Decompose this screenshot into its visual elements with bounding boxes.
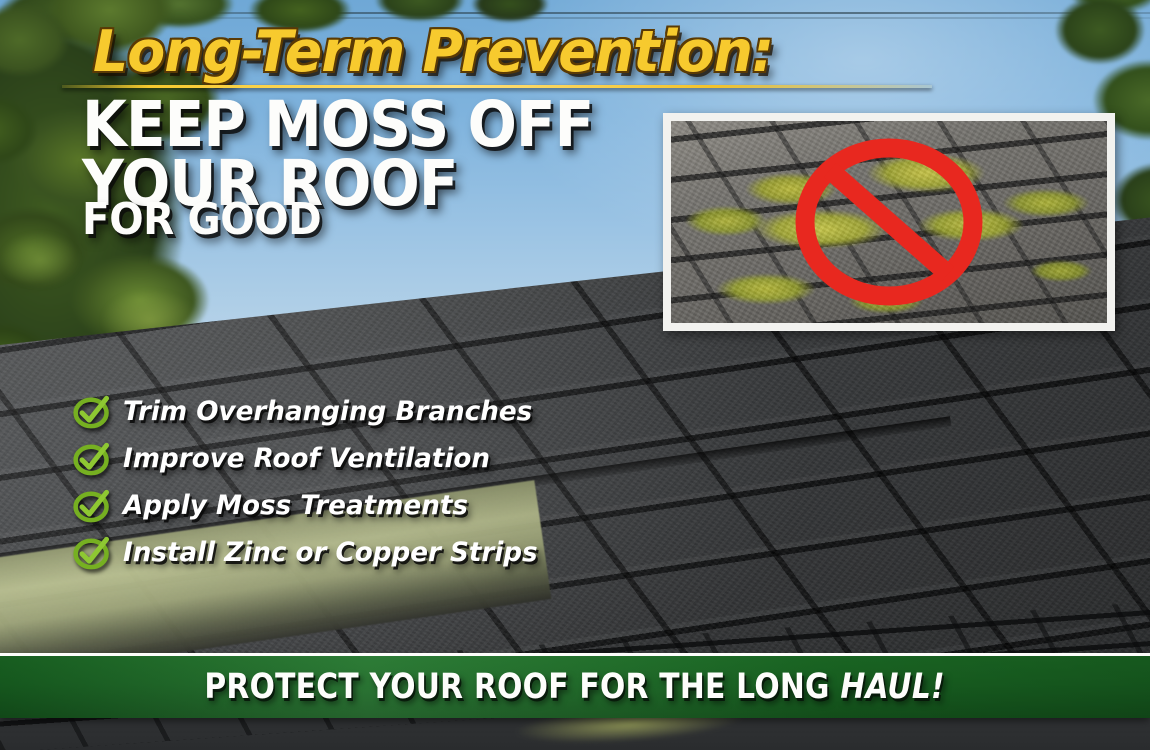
moss-covered-shingles-photo bbox=[671, 121, 1107, 323]
bottom-cta-banner: PROTECT YOUR ROOF FOR THE LONG HAUL! bbox=[0, 656, 1150, 718]
list-item: Install Zinc or Copper Strips bbox=[72, 529, 672, 576]
banner-text: PROTECT YOUR ROOF FOR THE LONG HAUL! bbox=[205, 667, 946, 707]
prohibition-no-symbol-icon bbox=[789, 122, 989, 322]
list-item: Apply Moss Treatments bbox=[72, 482, 672, 529]
subheadline: FOR GOOD bbox=[82, 198, 321, 242]
list-item: Trim Overhanging Branches bbox=[72, 388, 672, 435]
check-circle-icon bbox=[72, 392, 112, 432]
check-circle-icon bbox=[72, 486, 112, 526]
check-circle-icon bbox=[72, 439, 112, 479]
list-item: Improve Roof Ventilation bbox=[72, 435, 672, 482]
banner-text-tail: HAUL! bbox=[841, 667, 946, 707]
list-item-label: Improve Roof Ventilation bbox=[123, 443, 490, 474]
moss-warning-inset-frame bbox=[663, 113, 1115, 331]
check-circle-icon bbox=[72, 533, 112, 573]
prevention-checklist: Trim Overhanging Branches Improve Roof V… bbox=[72, 388, 672, 576]
list-item-label: Trim Overhanging Branches bbox=[123, 396, 532, 427]
kicker-text: Long-Term Prevention: bbox=[93, 24, 773, 81]
banner-text-main: PROTECT YOUR ROOF FOR THE LONG bbox=[205, 667, 841, 707]
list-item-label: Apply Moss Treatments bbox=[123, 490, 468, 521]
roofing-moss-prevention-poster: Long-Term Prevention: KEEP MOSS OFF YOUR… bbox=[0, 0, 1150, 750]
list-item-label: Install Zinc or Copper Strips bbox=[123, 537, 538, 568]
